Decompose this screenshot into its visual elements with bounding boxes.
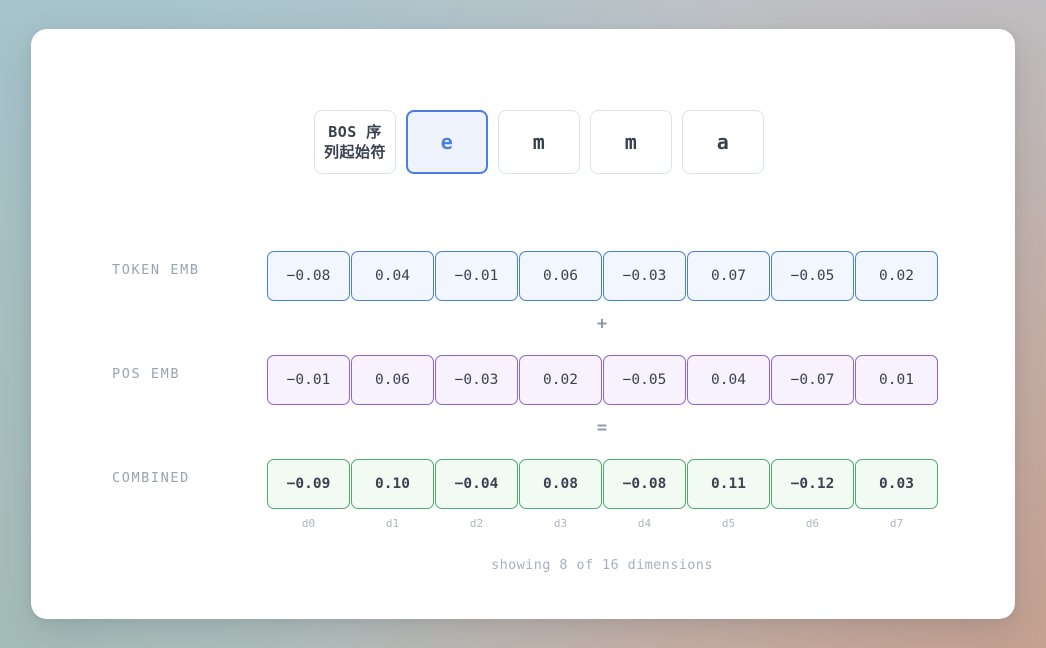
dimension-label: d1 bbox=[351, 517, 434, 530]
row-label-pos-emb: POS EMB bbox=[112, 366, 287, 382]
pos-emb-cells: −0.010.06−0.030.02−0.050.04−0.070.01 bbox=[267, 355, 938, 405]
value-cell: −0.03 bbox=[435, 355, 518, 405]
value-cell: 0.07 bbox=[687, 251, 770, 301]
row-label-token-emb: TOKEN EMB bbox=[112, 262, 287, 278]
value-cell: 0.04 bbox=[351, 251, 434, 301]
token-card-2[interactable]: m bbox=[498, 110, 580, 174]
token-card-label: e bbox=[441, 129, 454, 156]
dimension-label: d3 bbox=[519, 517, 602, 530]
plus-operator-icon: + bbox=[267, 314, 937, 334]
value-cell: 0.02 bbox=[855, 251, 938, 301]
value-cell: −0.07 bbox=[771, 355, 854, 405]
value-cell: −0.04 bbox=[435, 459, 518, 509]
dimension-label: d6 bbox=[771, 517, 854, 530]
value-cell: 0.06 bbox=[519, 251, 602, 301]
value-cell: 0.06 bbox=[351, 355, 434, 405]
token-card-3[interactable]: m bbox=[590, 110, 672, 174]
token-card-0[interactable]: BOS 序列起始符 bbox=[314, 110, 396, 174]
dimension-label: d2 bbox=[435, 517, 518, 530]
embedding-visualizer-panel: BOS 序列起始符emma TOKEN EMB −0.080.04−0.010.… bbox=[31, 29, 1015, 619]
value-cell: 0.03 bbox=[855, 459, 938, 509]
value-cell: 0.01 bbox=[855, 355, 938, 405]
token-card-4[interactable]: a bbox=[682, 110, 764, 174]
dimension-count-caption: showing 8 of 16 dimensions bbox=[267, 557, 937, 573]
token-emb-cells: −0.080.04−0.010.06−0.030.07−0.050.02 bbox=[267, 251, 938, 301]
token-card-label: a bbox=[717, 129, 730, 156]
dimension-label: d5 bbox=[687, 517, 770, 530]
value-cell: 0.02 bbox=[519, 355, 602, 405]
equals-operator-icon: = bbox=[267, 418, 937, 438]
value-cell: −0.09 bbox=[267, 459, 350, 509]
value-cell: −0.05 bbox=[603, 355, 686, 405]
dimension-labels: d0d1d2d3d4d5d6d7 bbox=[267, 517, 938, 530]
value-cell: −0.03 bbox=[603, 251, 686, 301]
token-card-label: BOS 序列起始符 bbox=[321, 122, 389, 163]
value-cell: 0.10 bbox=[351, 459, 434, 509]
value-cell: −0.01 bbox=[267, 355, 350, 405]
combined-cells: −0.090.10−0.040.08−0.080.11−0.120.03 bbox=[267, 459, 938, 509]
dimension-label: d7 bbox=[855, 517, 938, 530]
token-card-label: m bbox=[625, 129, 638, 156]
row-label-combined: COMBINED bbox=[112, 470, 287, 486]
value-cell: −0.12 bbox=[771, 459, 854, 509]
dimension-label: d4 bbox=[603, 517, 686, 530]
value-cell: −0.08 bbox=[267, 251, 350, 301]
value-cell: −0.08 bbox=[603, 459, 686, 509]
value-cell: 0.04 bbox=[687, 355, 770, 405]
value-cell: −0.05 bbox=[771, 251, 854, 301]
dimension-label: d0 bbox=[267, 517, 350, 530]
token-selector-row: BOS 序列起始符emma bbox=[314, 110, 764, 174]
value-cell: 0.08 bbox=[519, 459, 602, 509]
value-cell: 0.11 bbox=[687, 459, 770, 509]
token-card-label: m bbox=[533, 129, 546, 156]
token-card-1[interactable]: e bbox=[406, 110, 488, 174]
value-cell: −0.01 bbox=[435, 251, 518, 301]
